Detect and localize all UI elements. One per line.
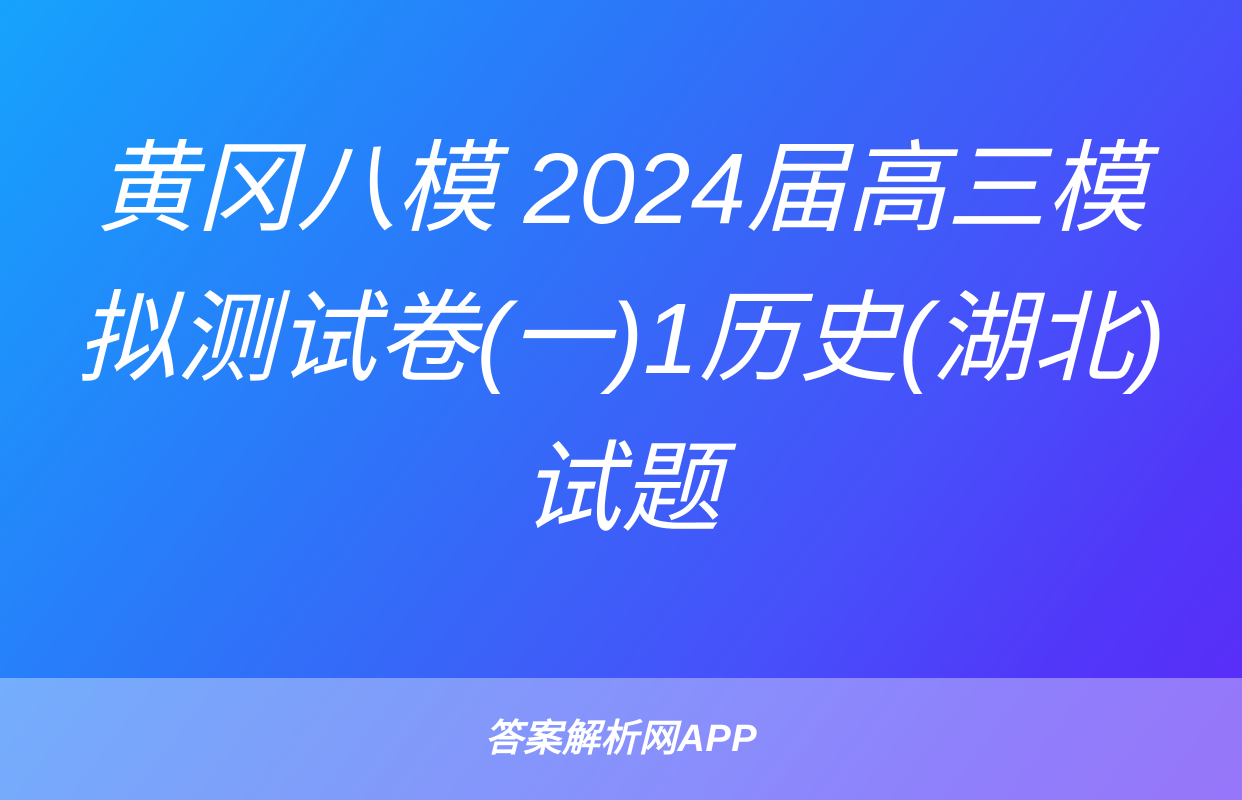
watermark-band: 答案解析网APP [0,678,1242,800]
page-title: 黄冈八模 2024届高三模拟测试卷(一)1历史(湖北)试题 [72,114,1170,564]
exam-cover-card: 黄冈八模 2024届高三模拟测试卷(一)1历史(湖北)试题 答案解析网APP [0,0,1242,800]
watermark-text: 答案解析网APP [485,716,757,762]
title-area: 黄冈八模 2024届高三模拟测试卷(一)1历史(湖北)试题 [0,0,1242,678]
